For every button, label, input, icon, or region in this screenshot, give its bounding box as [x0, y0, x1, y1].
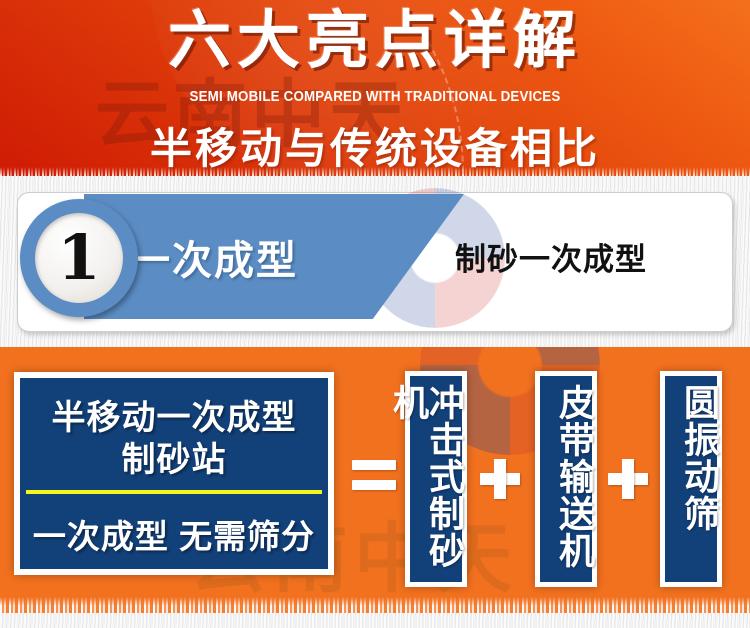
component-label-2: 皮带输送机 [540, 384, 592, 569]
subtitle-english: SEMI MOBILE COMPARED WITH TRADITIONAL DE… [30, 89, 720, 105]
component-box-1: 冲击式制砂机 [405, 371, 467, 587]
plus-sign-icon-1 [480, 459, 520, 499]
component-label-1: 冲击式制砂机 [410, 384, 462, 582]
feature-banner-label: 一次成型 [130, 228, 390, 286]
plus-sign-icon-2 [608, 459, 648, 499]
result-box: 半移动一次成型 制砂站 一次成型 无需筛分 [14, 372, 334, 575]
result-line-3: 一次成型 无需筛分 [20, 510, 328, 558]
promo-page: 云南中天 六大亮点详解 SEMI MOBILE COMPARED WITH TR… [0, 0, 750, 628]
page-title: 六大亮点详解 [0, 10, 750, 73]
plus-bar-vertical-1 [494, 459, 506, 499]
component-box-3: 圆振动筛 [660, 371, 722, 587]
badge-inner-circle: 1 [35, 213, 123, 303]
equals-bar-top [352, 460, 396, 470]
component-box-2: 皮带输送机 [535, 371, 597, 587]
result-line-2: 制砂站 [20, 432, 328, 481]
equals-sign-icon [352, 460, 396, 490]
equals-bar-bottom [352, 480, 396, 490]
equation-section: 云南中天 半移动一次成型 制砂站 一次成型 无需筛分 冲击式制砂机 皮带输送机 … [0, 347, 750, 613]
result-divider-rule [26, 490, 322, 494]
header-torn-edge [0, 167, 750, 176]
header-banner: 云南中天 六大亮点详解 SEMI MOBILE COMPARED WITH TR… [0, 0, 750, 176]
badge-number-text: 1 [57, 227, 100, 289]
orange-torn-edge [0, 597, 750, 613]
feature-description: 制砂一次成型 [455, 234, 735, 279]
plus-bar-vertical-2 [622, 459, 634, 499]
feature-number-badge: 1 [20, 199, 138, 317]
component-label-3: 圆振动筛 [665, 384, 717, 532]
